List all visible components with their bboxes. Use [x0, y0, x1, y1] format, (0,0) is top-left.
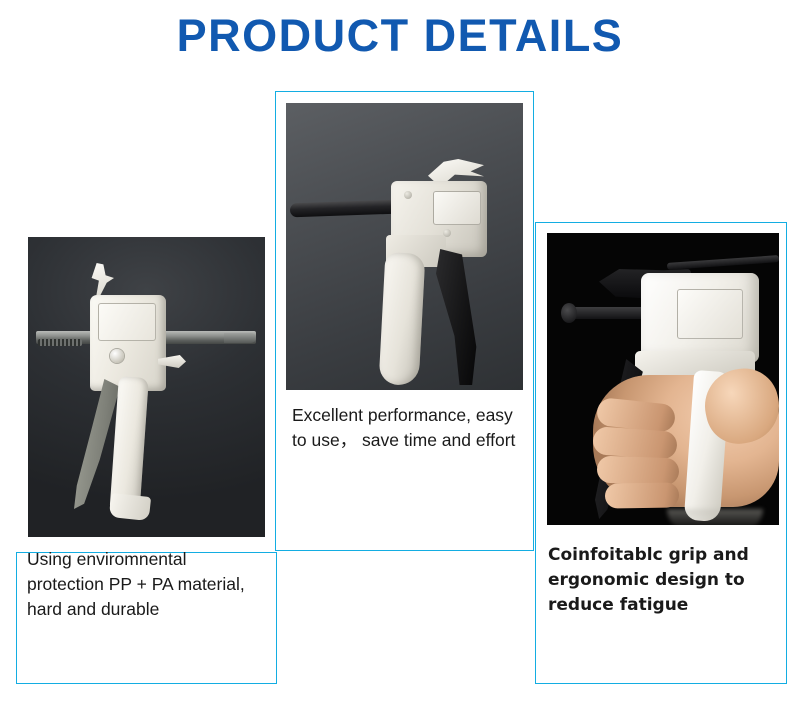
- caption-right: Coinfoitablc grip and ergonomic design t…: [548, 543, 780, 618]
- dispensing-gun-illustration-middle: [286, 103, 523, 390]
- plunger-cap: [561, 303, 577, 323]
- body-screw: [110, 349, 124, 363]
- product-image-side-view: [28, 237, 265, 537]
- rod-knurling: [38, 339, 82, 346]
- handle-foot: [109, 493, 151, 521]
- gun-body-panel: [98, 303, 156, 341]
- rear-bar: [667, 255, 779, 270]
- dispensing-gun-illustration-right: [547, 233, 779, 525]
- rod-tip: [224, 333, 256, 343]
- body-screw-upper: [404, 191, 412, 199]
- gun-body-panel: [677, 289, 743, 339]
- gun-body-panel: [433, 191, 481, 225]
- page-title: PRODUCT DETAILS: [0, 8, 800, 64]
- finger-middle: [592, 426, 678, 460]
- product-image-in-hand: [547, 233, 779, 525]
- dispensing-gun-illustration-left: [28, 237, 265, 537]
- product-image-angled-view: [286, 103, 523, 390]
- finger-pinky: [605, 482, 679, 508]
- caption-left: Using enviromnental protection PP + PA m…: [27, 547, 267, 622]
- black-trigger: [436, 249, 478, 385]
- release-lever: [86, 263, 114, 297]
- gun-handle: [379, 252, 426, 386]
- finger-ring: [597, 456, 680, 486]
- surface-reflection: [667, 509, 763, 525]
- caption-middle: Excellent performance, easy to use， save…: [292, 403, 527, 453]
